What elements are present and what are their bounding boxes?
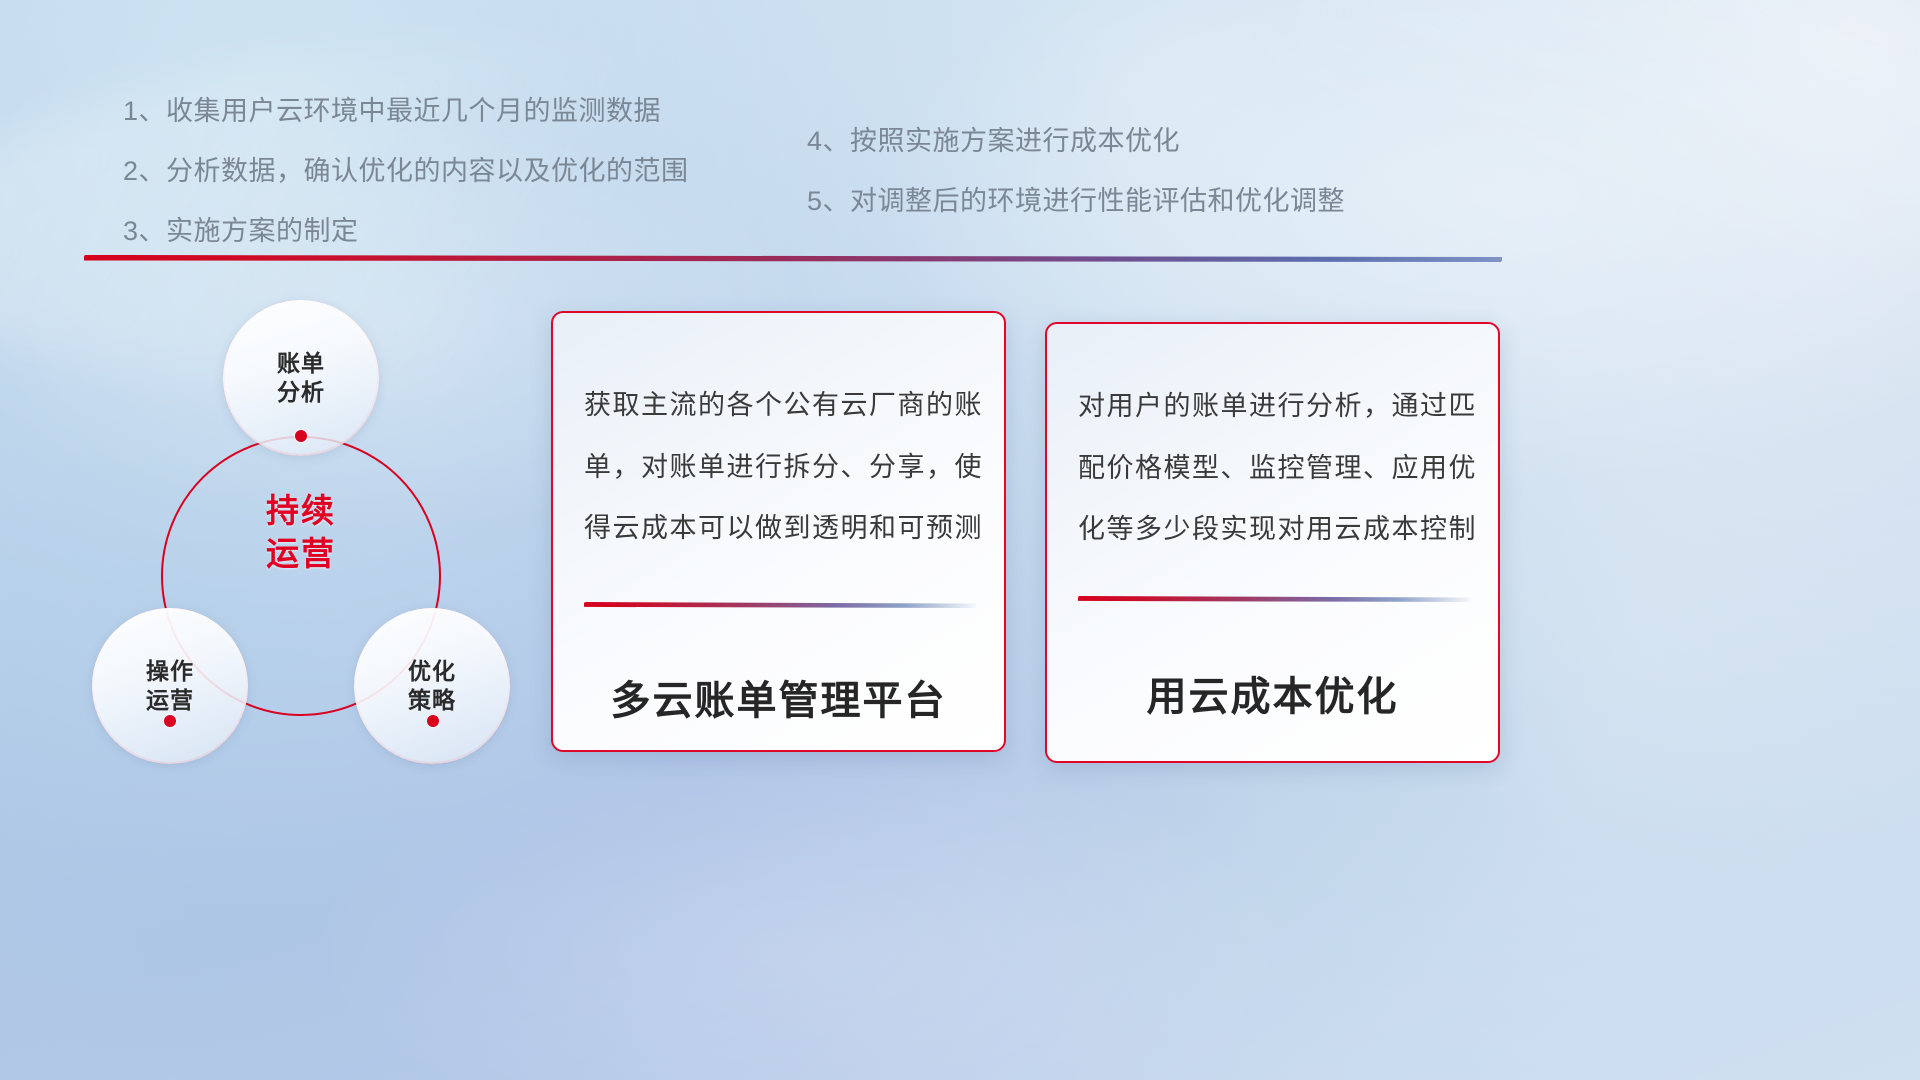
card-rule-bar [1078, 596, 1470, 602]
venn-bubble-bill-analysis-line1: 账单 [277, 349, 325, 378]
venn-bubble-operations[interactable]: 操作 运营 [92, 608, 248, 764]
venn-node-dot-bottom-left [164, 715, 176, 727]
venn-center-label: 持续 运营 [210, 490, 392, 576]
feature-card-multicloud-billing-title: 多云账单管理平台 [553, 668, 1004, 726]
feature-card-cloud-cost-optimization[interactable]: 对用户的账单进行分析，通过匹配价格模型、监控管理、应用优化等多少段实现对用云成本… [1045, 322, 1500, 763]
feature-card-cloud-cost-optimization-rule [1078, 596, 1470, 602]
venn-bubble-bill-analysis-line2: 分析 [277, 378, 325, 407]
venn-center-label-line1: 持续 [210, 490, 392, 533]
venn-bubble-operations-line2: 运营 [146, 686, 194, 715]
venn-bubble-optimization-strategy-line2: 策略 [408, 686, 456, 715]
process-step-3: 3、实施方案的制定 [123, 218, 689, 245]
feature-card-multicloud-billing-rule [584, 602, 976, 608]
feature-card-cloud-cost-optimization-title: 用云成本优化 [1047, 664, 1498, 722]
venn-bubble-operations-line1: 操作 [146, 657, 194, 686]
process-step-1: 1、收集用户云环境中最近几个月的监测数据 [123, 98, 689, 125]
section-divider [84, 255, 1502, 262]
process-steps-right-column: 4、按照实施方案进行成本优化 5、对调整后的环境进行性能评估和优化调整 [807, 128, 1345, 248]
card-rule-bar [584, 602, 976, 608]
venn-bubble-optimization-strategy-line1: 优化 [408, 657, 456, 686]
feature-card-multicloud-billing[interactable]: 获取主流的各个公有云厂商的账单，对账单进行拆分、分享，使得云成本可以做到透明和可… [551, 311, 1006, 752]
divider-bar [84, 255, 1502, 262]
venn-node-dot-bottom-right [427, 715, 439, 727]
venn-diagram: 账单 分析 操作 运营 优化 策略 持续 运营 [80, 290, 550, 770]
process-steps-left-column: 1、收集用户云环境中最近几个月的监测数据 2、分析数据，确认优化的内容以及优化的… [123, 98, 689, 278]
venn-node-dot-top [295, 430, 307, 442]
process-step-4: 4、按照实施方案进行成本优化 [807, 128, 1345, 155]
process-step-2: 2、分析数据，确认优化的内容以及优化的范围 [123, 158, 689, 185]
feature-card-multicloud-billing-body: 获取主流的各个公有云厂商的账单，对账单进行拆分、分享，使得云成本可以做到透明和可… [584, 375, 982, 560]
venn-bubble-optimization-strategy[interactable]: 优化 策略 [354, 608, 510, 764]
feature-card-cloud-cost-optimization-body: 对用户的账单进行分析，通过匹配价格模型、监控管理、应用优化等多少段实现对用云成本… [1078, 376, 1476, 561]
process-step-5: 5、对调整后的环境进行性能评估和优化调整 [807, 188, 1345, 215]
venn-center-label-line2: 运营 [210, 533, 392, 576]
